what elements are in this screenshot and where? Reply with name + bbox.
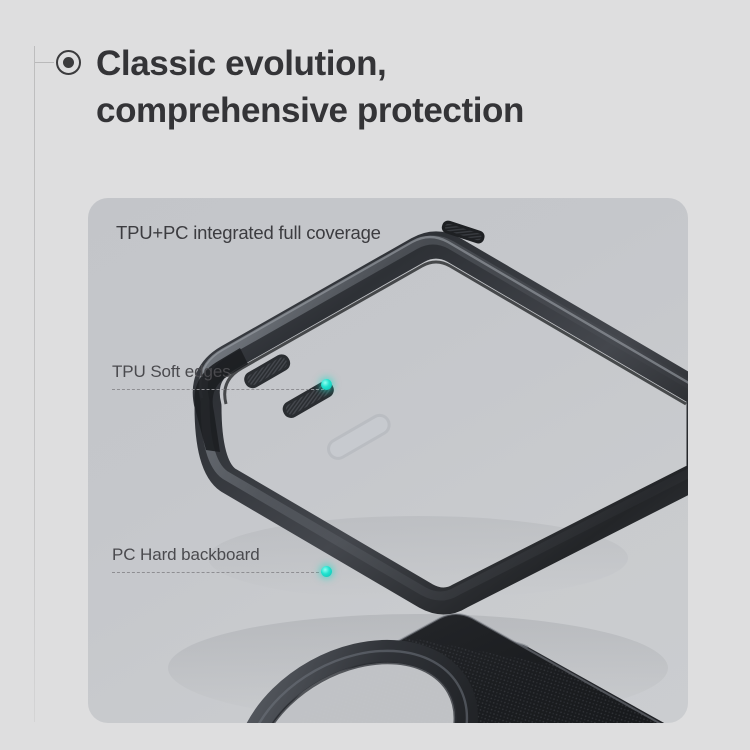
page-title-line-1: Classic evolution, [96,40,716,87]
callout-pc-hard-backboard: PC Hard backboard [112,545,324,573]
product-feature-slide: Classic evolution, comprehensive protect… [0,0,750,750]
cyan-dot-icon [321,379,332,390]
left-vertical-rule [34,46,35,722]
page-title-line-2: comprehensive protection [96,87,716,134]
feature-card: ZEISS [88,198,688,723]
card-title: TPU+PC integrated full coverage [116,222,381,244]
left-tick-line [35,62,54,63]
callout-label: TPU Soft edges [112,362,324,382]
callout-tpu-soft-edges: TPU Soft edges [112,362,324,390]
cyan-dot-icon [321,566,332,577]
callout-label: PC Hard backboard [112,545,324,565]
leader-line [112,572,324,573]
target-dot-icon [56,50,81,75]
product-illustration: ZEISS [88,198,688,723]
page-title: Classic evolution, comprehensive protect… [96,40,716,134]
leader-line [112,389,324,390]
